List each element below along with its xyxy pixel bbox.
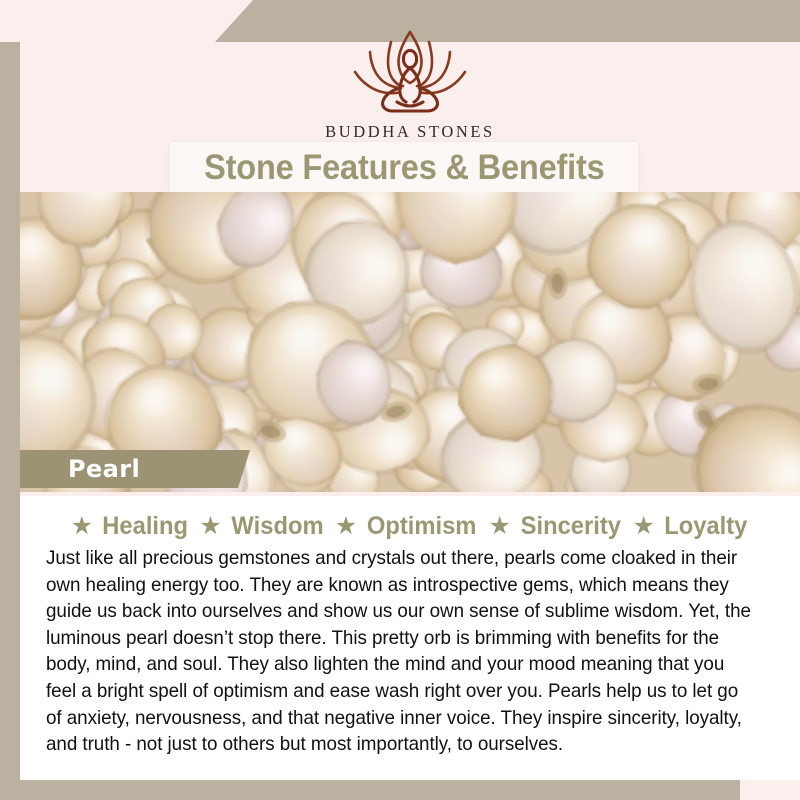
page-title: Stone Features & Benefits xyxy=(204,148,605,188)
benefit-label: Healing xyxy=(102,512,188,541)
benefit-item: ★Sincerity xyxy=(488,512,623,541)
stone-name-label: Pearl xyxy=(68,455,140,483)
bottom-right-frame-corner xyxy=(700,780,800,800)
star-icon: ★ xyxy=(199,514,221,539)
star-icon: ★ xyxy=(488,514,510,539)
brand-name: BUDDHA STONES xyxy=(325,122,495,142)
star-icon: ★ xyxy=(71,514,93,539)
pearl-photo-canvas xyxy=(20,192,800,492)
poster: BUDDHA STONES Stone Features & Benefits … xyxy=(0,0,800,800)
benefit-item: ★Healing xyxy=(71,512,191,541)
description-text: Just like all precious gemstones and cry… xyxy=(46,545,752,758)
left-frame-band xyxy=(0,42,20,780)
star-icon: ★ xyxy=(632,514,654,539)
benefit-label: Wisdom xyxy=(231,512,323,541)
benefit-item: ★Optimism xyxy=(335,512,480,541)
header: BUDDHA STONES Stone Features & Benefits xyxy=(20,42,800,192)
brand-logo: BUDDHA STONES xyxy=(20,26,800,142)
pearl-photo xyxy=(20,192,800,492)
benefits-row: ★Healing★Wisdom★Optimism★Sincerity★Loyal… xyxy=(46,512,774,541)
benefit-label: Loyalty xyxy=(664,512,747,541)
benefit-item: ★Loyalty xyxy=(632,512,749,541)
benefit-item: ★Wisdom xyxy=(199,512,325,541)
content-card: ★Healing★Wisdom★Optimism★Sincerity★Loyal… xyxy=(20,496,800,780)
title-banner: Stone Features & Benefits xyxy=(170,142,638,194)
star-icon: ★ xyxy=(335,514,357,539)
benefit-label: Optimism xyxy=(367,512,477,541)
bottom-frame-band xyxy=(0,780,740,800)
lotus-meditation-icon xyxy=(335,26,485,118)
benefit-label: Sincerity xyxy=(520,512,620,541)
stone-name-badge: Pearl xyxy=(20,450,250,488)
